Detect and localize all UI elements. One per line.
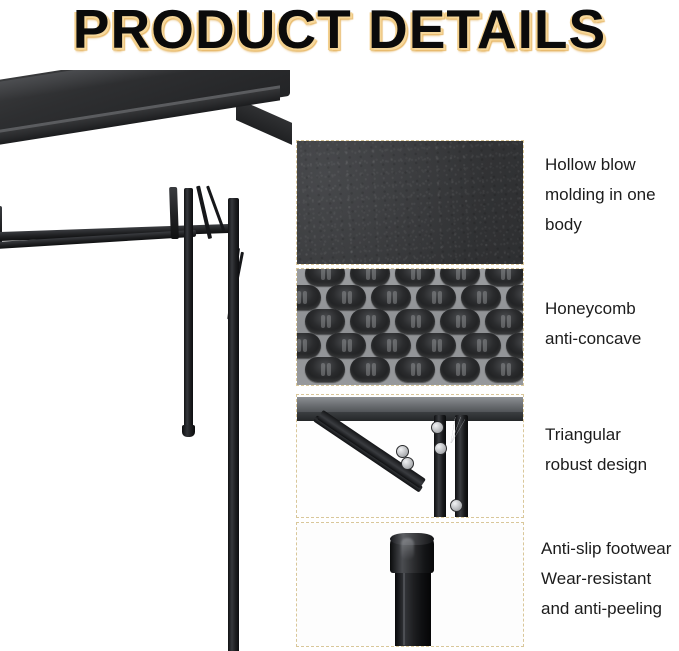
brace-bolt <box>450 499 463 512</box>
figure-tabletop-corner-macro <box>296 140 524 265</box>
brace-bolt <box>434 442 447 455</box>
title-bar: PRODUCT DETAILS <box>0 0 679 66</box>
table-leg-rear <box>184 188 193 433</box>
honeycomb-cell <box>440 268 480 286</box>
honeycomb-cell <box>350 357 390 382</box>
honeycomb-cell <box>395 268 435 286</box>
callout-line: Wear-resistant <box>541 564 679 594</box>
honeycomb-cell <box>485 268 524 286</box>
callout-line: and anti-peeling <box>541 594 679 624</box>
brace-bolt <box>431 421 444 434</box>
hinge-wire-detail <box>443 417 465 443</box>
foot-cap-highlight <box>401 538 414 560</box>
callout-text-honeycomb-anti-concave: Honeycomb anti-concave <box>524 268 679 354</box>
callout-hollow-blow-molding: Hollow blow molding in one body <box>292 140 679 268</box>
frame-rail-cross <box>169 187 179 239</box>
brace-bolt <box>401 457 414 470</box>
honeycomb-cell <box>326 333 366 358</box>
leg-tube <box>395 569 431 647</box>
callout-line: Anti-slip footwear <box>541 534 679 564</box>
callout-honeycomb-anti-concave: Honeycomb anti-concave <box>292 268 679 392</box>
honeycomb-cell <box>461 285 501 310</box>
honeycomb-cell <box>506 285 524 310</box>
honeycomb-cell <box>416 333 456 358</box>
callout-text-triangular-robust-design: Triangular robust design <box>524 394 679 480</box>
honeycomb-cell <box>296 333 321 358</box>
honeycomb-cell <box>461 333 501 358</box>
callout-triangular-robust-design: Triangular robust design <box>292 394 679 522</box>
callout-line: Hollow blow <box>545 150 679 180</box>
callout-line: robust design <box>545 450 679 480</box>
tabletop-rim-shadow <box>296 140 524 265</box>
honeycomb-cell <box>395 357 435 382</box>
honeycomb-cell <box>326 285 366 310</box>
honeycomb-cell <box>440 357 480 382</box>
honeycomb-cell <box>440 309 480 334</box>
honeycomb-cell <box>485 309 524 334</box>
callout-line: molding in one <box>545 180 679 210</box>
leg-tube-highlight <box>403 571 405 645</box>
honeycomb-cell <box>371 285 411 310</box>
honeycomb-cell <box>350 309 390 334</box>
honeycomb-cell <box>395 309 435 334</box>
honeycomb-cell <box>296 285 321 310</box>
honeycomb-cell <box>485 357 524 382</box>
honeycomb-cell <box>305 309 345 334</box>
figure-triangular-leg-brace <box>296 394 524 518</box>
honeycomb-cell <box>350 268 390 286</box>
callout-text-hollow-blow-molding: Hollow blow molding in one body <box>524 140 679 240</box>
honeycomb-row <box>297 357 524 386</box>
callout-text-anti-slip-footwear: Anti-slip footwear Wear-resistant and an… <box>524 522 679 624</box>
honeycomb-cell <box>305 357 345 382</box>
callout-anti-slip-footwear: Anti-slip footwear Wear-resistant and an… <box>292 522 679 651</box>
hero-product-photo <box>0 70 292 651</box>
figure-anti-slip-foot-cap <box>296 522 524 647</box>
callout-line: anti-concave <box>545 324 679 354</box>
callout-line: Triangular <box>545 420 679 450</box>
callout-line: Honeycomb <box>545 294 679 324</box>
honeycomb-cell <box>305 268 345 286</box>
honeycomb-cell <box>371 333 411 358</box>
page-title: PRODUCT DETAILS <box>0 0 679 60</box>
honeycomb-cell <box>506 333 524 358</box>
honeycomb-cell <box>416 285 456 310</box>
callout-line: body <box>545 210 679 240</box>
callout-list: Hollow blow molding in one body Honeycom… <box>292 140 679 651</box>
table-leg-front <box>228 198 239 651</box>
table-foot-rear <box>182 425 195 437</box>
figure-honeycomb-underside-macro <box>296 268 524 386</box>
